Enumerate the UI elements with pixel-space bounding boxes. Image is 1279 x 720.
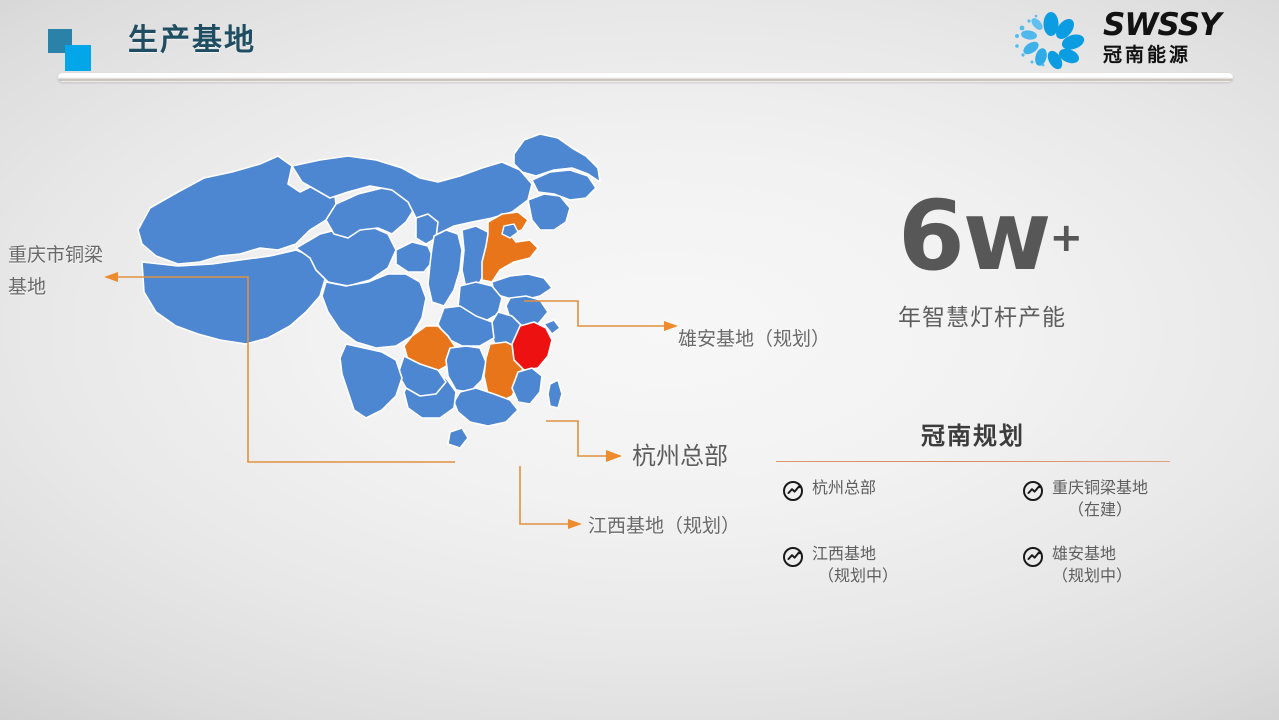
province-tibet bbox=[142, 250, 326, 344]
pulse-circle-icon bbox=[782, 479, 806, 503]
plan-list: 杭州总部 重庆铜梁基地 （在建） bbox=[768, 478, 1178, 588]
slide-canvas: 生产基地 SWSSY 冠南能源 bbox=[0, 0, 1279, 720]
province-yunnan bbox=[340, 344, 402, 418]
plan-item-label: 重庆铜梁基地 bbox=[1052, 480, 1148, 497]
plan-item-chongqing[interactable]: 重庆铜梁基地 （在建） bbox=[978, 478, 1178, 522]
plan-item-text: 雄安基地 （规划中） bbox=[1052, 544, 1132, 588]
brand-name: SWSSY bbox=[1103, 8, 1253, 42]
brand-logo: SWSSY 冠南能源 bbox=[1003, 8, 1253, 72]
pulse-circle-icon bbox=[1022, 545, 1046, 569]
plan-panel: 冠南规划 杭州总部 bbox=[768, 420, 1178, 588]
callout-jiangxi: 江西基地（规划） bbox=[588, 512, 740, 542]
province-hebei-highlight bbox=[482, 212, 538, 282]
header-square-light bbox=[65, 45, 91, 71]
plan-item-label: 江西基地 bbox=[812, 546, 876, 563]
callout-chongqing: 重庆市铜梁基地 bbox=[8, 240, 104, 304]
beijing-inset bbox=[502, 224, 518, 238]
capacity-value: 6w bbox=[898, 180, 1049, 292]
plan-item-text: 杭州总部 bbox=[812, 478, 876, 500]
plan-item-label: 雄安基地 bbox=[1052, 546, 1116, 563]
capacity-stat: 6w+ 年智慧灯杆产能 bbox=[898, 190, 1198, 332]
plan-item-label: 杭州总部 bbox=[812, 480, 876, 497]
capacity-plus: + bbox=[1049, 215, 1083, 261]
callout-hangzhou: 杭州总部 bbox=[632, 442, 728, 472]
plan-item-sub: （规划中） bbox=[1052, 566, 1132, 588]
pulse-circle-icon bbox=[782, 545, 806, 569]
province-liaoning bbox=[528, 194, 570, 230]
capacity-caption: 年智慧灯杆产能 bbox=[898, 298, 1198, 332]
arrow-chongqing bbox=[104, 272, 118, 282]
plan-title: 冠南规划 bbox=[768, 420, 1178, 454]
plan-item-xiongan[interactable]: 雄安基地 （规划中） bbox=[978, 544, 1178, 588]
page-title: 生产基地 bbox=[128, 26, 256, 56]
province-zhejiang-headquarters bbox=[512, 322, 552, 370]
header-divider bbox=[58, 73, 1233, 82]
province-hainan bbox=[448, 428, 468, 448]
swssy-flower-logo-icon bbox=[1003, 10, 1099, 70]
capacity-number: 6w+ bbox=[898, 190, 1198, 284]
plan-item-hangzhou[interactable]: 杭州总部 bbox=[768, 478, 968, 522]
china-provinces-map bbox=[120, 130, 680, 560]
plan-item-text: 重庆铜梁基地 （在建） bbox=[1052, 478, 1148, 522]
plan-item-text: 江西基地 （规划中） bbox=[812, 544, 898, 588]
brand-name-cn: 冠南能源 bbox=[1103, 44, 1253, 68]
callout-xiongan: 雄安基地（规划） bbox=[678, 325, 830, 355]
plan-divider bbox=[776, 461, 1170, 462]
province-taiwan bbox=[548, 380, 562, 408]
plan-item-sub: （在建） bbox=[1052, 500, 1148, 522]
province-shaanxi bbox=[428, 230, 462, 306]
pulse-circle-icon bbox=[1022, 479, 1046, 503]
plan-item-jiangxi[interactable]: 江西基地 （规划中） bbox=[768, 544, 968, 588]
plan-item-sub: （规划中） bbox=[812, 566, 898, 588]
